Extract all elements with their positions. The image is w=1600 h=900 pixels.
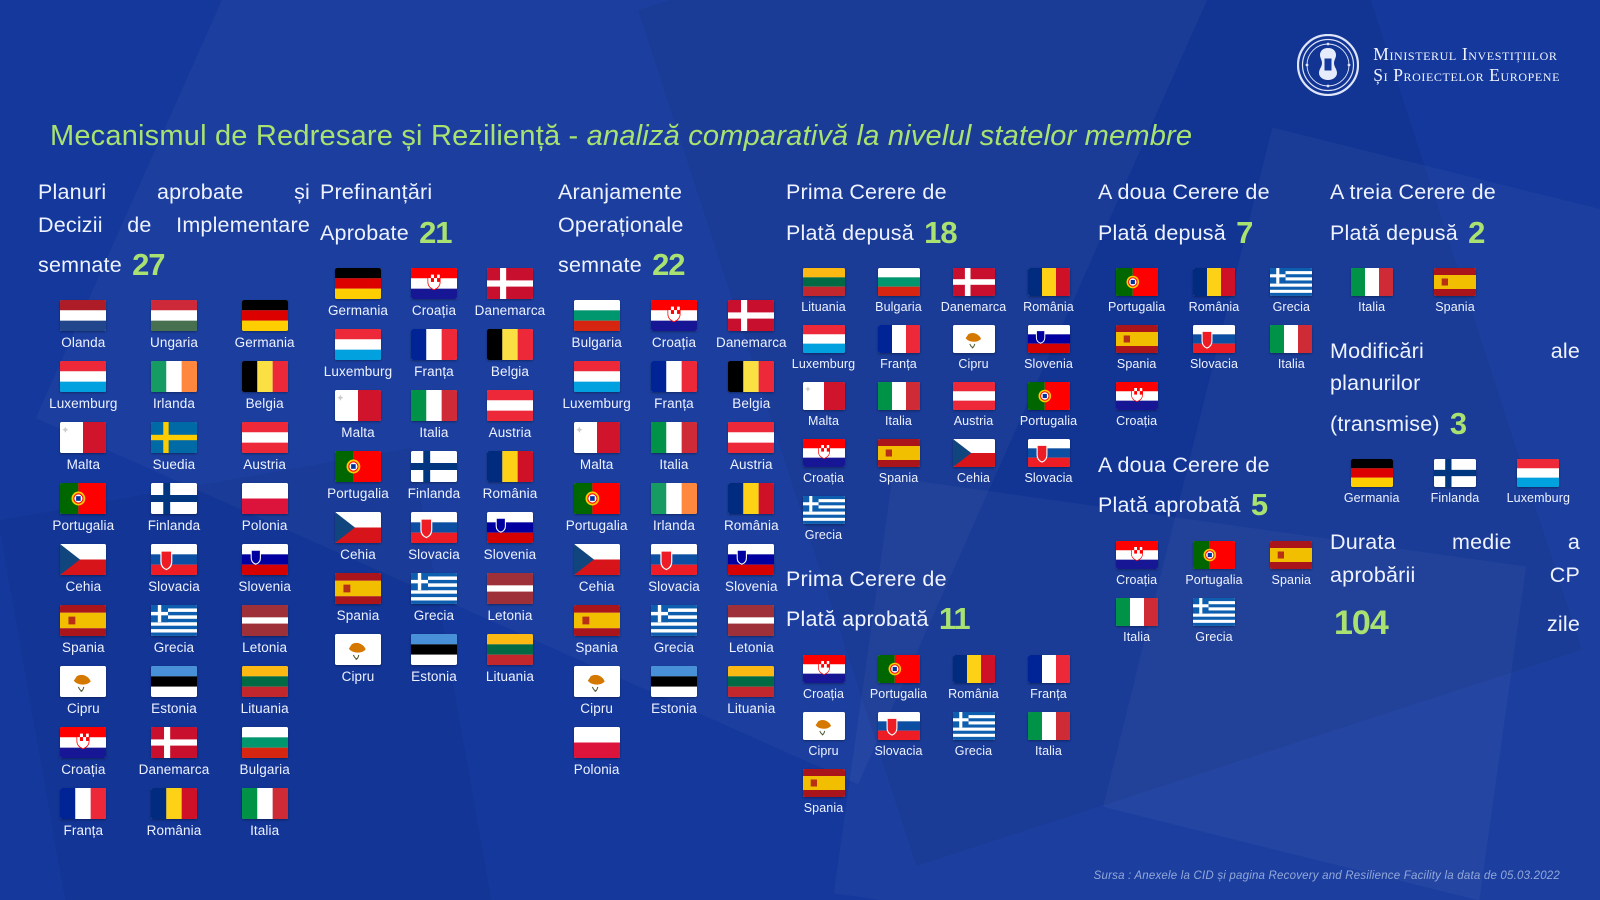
- flag-frana-icon: [60, 788, 106, 819]
- flag-romnia-icon: [953, 655, 995, 683]
- country-label: Letonia: [487, 608, 532, 623]
- flag-item[interactable]: România: [1011, 268, 1086, 314]
- flag-grecia-icon: [803, 496, 845, 524]
- country-label: România: [1023, 300, 1074, 314]
- flag-grecia-icon: [1193, 598, 1235, 626]
- flag-item[interactable]: Slovenia: [713, 544, 790, 594]
- flag-austria-icon: [953, 382, 995, 410]
- flag-item[interactable]: România: [1175, 268, 1252, 314]
- country-label: Portugalia: [1185, 573, 1242, 587]
- flag-lituania-icon: [242, 666, 288, 697]
- flag-item[interactable]: Italia: [1253, 325, 1330, 371]
- flag-item[interactable]: Danemarca: [129, 727, 220, 777]
- flag-item[interactable]: Malta: [558, 422, 635, 472]
- flag-item[interactable]: Slovenia: [219, 544, 310, 594]
- flag-item[interactable]: Bulgaria: [219, 727, 310, 777]
- duration-value: 104: [1330, 604, 1388, 642]
- flag-danemarca-icon: [728, 300, 774, 331]
- section-prima-cerere-depusa: Prima Cerere dePlată depusă 18LituaniaBu…: [786, 176, 1086, 553]
- flag-danemarca-icon: [953, 268, 995, 296]
- flag-romnia-icon: [151, 788, 197, 819]
- country-label: Grecia: [154, 640, 194, 655]
- flag-finlanda-icon: [411, 451, 457, 482]
- flag-germania-icon: [242, 300, 288, 331]
- country-label: Portugalia: [52, 518, 114, 533]
- flag-slovacia-icon: [151, 544, 197, 575]
- flag-item[interactable]: Austria: [713, 422, 790, 472]
- flag-item[interactable]: Cipru: [320, 634, 396, 684]
- flag-portugalia-icon: [1193, 541, 1235, 569]
- flag-luxemburg-icon: [1517, 459, 1559, 487]
- flag-item[interactable]: Croația: [786, 655, 861, 701]
- country-label: România: [483, 486, 538, 501]
- flag-item[interactable]: Spania: [320, 573, 396, 623]
- country-label: Austria: [954, 414, 994, 428]
- sections-board: Planuri aprobate șiDecizii de Implementa…: [0, 176, 1600, 876]
- flag-item[interactable]: Spania: [786, 769, 861, 815]
- country-label: Croația: [803, 471, 844, 485]
- flag-item[interactable]: Suedia: [129, 422, 220, 472]
- country-label: Danemarca: [139, 762, 210, 777]
- section-count-a-treia-cerere-depusa: 2: [1464, 215, 1484, 250]
- flag-item[interactable]: Franța: [635, 361, 712, 411]
- flag-item[interactable]: Ungaria: [129, 300, 220, 350]
- country-label: România: [1189, 300, 1240, 314]
- country-label: Slovacia: [148, 579, 200, 594]
- flag-item[interactable]: Italia: [396, 390, 472, 440]
- country-label: Croația: [61, 762, 105, 777]
- flag-frana-icon: [1028, 655, 1070, 683]
- flag-item[interactable]: România: [129, 788, 220, 838]
- flag-item[interactable]: Luxemburg: [38, 361, 129, 411]
- country-label: România: [147, 823, 202, 838]
- flag-item[interactable]: Estonia: [129, 666, 220, 716]
- flag-item[interactable]: Luxemburg: [786, 325, 861, 371]
- flag-item[interactable]: Olanda: [38, 300, 129, 350]
- flag-italia-icon: [1270, 325, 1312, 353]
- country-label: Cipru: [958, 357, 988, 371]
- country-label: Danemarca: [475, 303, 546, 318]
- column-2: PrefinanțăriAprobate 21GermaniaCroațiaDa…: [320, 176, 548, 705]
- flag-item[interactable]: Polonia: [558, 727, 635, 777]
- flag-frana-icon: [878, 325, 920, 353]
- flag-item[interactable]: Danemarca: [472, 268, 548, 318]
- flag-item[interactable]: Slovenia: [472, 512, 548, 562]
- flag-item[interactable]: Finlanda: [129, 483, 220, 533]
- flag-item[interactable]: Franța: [861, 325, 936, 371]
- flag-item[interactable]: Luxemburg: [320, 329, 396, 379]
- flag-item[interactable]: Grecia: [396, 573, 472, 623]
- section-heading-modificari-planuri: Modificări aleplanurilor(transmise) 3: [1330, 335, 1580, 447]
- flag-item[interactable]: Germania: [1330, 459, 1413, 505]
- flag-grid-prima-cerere-depusa: LituaniaBulgariaDanemarcaRomâniaLuxembur…: [786, 268, 1086, 553]
- flag-item[interactable]: Polonia: [219, 483, 310, 533]
- country-label: Lituania: [241, 701, 289, 716]
- country-label: Germania: [1344, 491, 1400, 505]
- flag-item[interactable]: Italia: [219, 788, 310, 838]
- heading-line: Prima Cerere de: [786, 563, 1086, 596]
- flag-portugalia-icon: [878, 655, 920, 683]
- flag-italia-icon: [1351, 268, 1393, 296]
- heading-line: Aranjamente: [558, 176, 790, 209]
- flag-belgia-icon: [242, 361, 288, 392]
- country-label: Croația: [1116, 414, 1157, 428]
- flag-item[interactable]: Franța: [396, 329, 472, 379]
- section-heading-durata-medie: Durata medie aaprobării CP104 zile: [1330, 526, 1580, 649]
- flag-italia-icon: [878, 382, 920, 410]
- flag-item[interactable]: Spania: [1253, 541, 1330, 587]
- country-label: Finlanda: [148, 518, 201, 533]
- flag-item[interactable]: Spania: [1098, 325, 1175, 371]
- column-4: Prima Cerere dePlată depusă 18LituaniaBu…: [786, 176, 1086, 836]
- flag-item[interactable]: Austria: [219, 422, 310, 472]
- flag-item[interactable]: România: [472, 451, 548, 501]
- flag-romnia-icon: [728, 483, 774, 514]
- flag-romnia-icon: [1028, 268, 1070, 296]
- flag-item[interactable]: Portugalia: [38, 483, 129, 533]
- flag-item[interactable]: Grecia: [635, 605, 712, 655]
- country-label: Portugalia: [1108, 300, 1165, 314]
- country-label: România: [724, 518, 779, 533]
- country-label: Italia: [419, 425, 448, 440]
- flag-item[interactable]: Slovacia: [1011, 439, 1086, 485]
- flag-spania-icon: [803, 769, 845, 797]
- heading-line: Decizii de Implementare: [38, 209, 310, 242]
- ministry-name-line1: Ministerul Investițiilor: [1373, 44, 1560, 65]
- country-label: Italia: [659, 457, 688, 472]
- flag-item[interactable]: Cipru: [38, 666, 129, 716]
- heading-line: Plată aprobată 5: [1098, 481, 1330, 528]
- country-label: Slovenia: [238, 579, 291, 594]
- heading-line: Modificări ale: [1330, 335, 1580, 368]
- flag-luxemburg-icon: [335, 329, 381, 360]
- flag-irlanda-icon: [651, 483, 697, 514]
- country-label: Estonia: [151, 701, 197, 716]
- flag-polonia-icon: [242, 483, 288, 514]
- flag-grid-a-doua-cerere-aprobata: CroațiaPortugaliaSpaniaItaliaGrecia: [1098, 541, 1330, 655]
- flag-ungaria-icon: [151, 300, 197, 331]
- flag-cipru-icon: [574, 666, 620, 697]
- country-label: Cipru: [67, 701, 100, 716]
- country-label: Slovacia: [874, 744, 922, 758]
- flag-estonia-icon: [411, 634, 457, 665]
- country-label: Belgia: [246, 396, 284, 411]
- section-planuri-aprobate: Planuri aprobate șiDecizii de Implementa…: [38, 176, 310, 849]
- country-label: Grecia: [414, 608, 454, 623]
- flag-item[interactable]: Letonia: [713, 605, 790, 655]
- flag-spania-icon: [335, 573, 381, 604]
- column-1: Planuri aprobate șiDecizii de Implementa…: [38, 176, 310, 859]
- flag-item[interactable]: Cipru: [558, 666, 635, 716]
- country-label: Franța: [414, 364, 454, 379]
- flag-item[interactable]: Franța: [1011, 655, 1086, 701]
- flag-grecia-icon: [953, 712, 995, 740]
- flag-item[interactable]: Grecia: [129, 605, 220, 655]
- flag-grecia-icon: [651, 605, 697, 636]
- flag-item[interactable]: Belgia: [713, 361, 790, 411]
- heading-line: Durata medie a: [1330, 526, 1580, 559]
- flag-item[interactable]: Croația: [38, 727, 129, 777]
- flag-item[interactable]: Slovacia: [861, 712, 936, 758]
- page-title-roman: Mecanismul de Redresare și Reziliență -: [50, 120, 587, 152]
- flag-portugalia-icon: [1116, 268, 1158, 296]
- flag-bulgaria-icon: [878, 268, 920, 296]
- flag-item[interactable]: Spania: [1413, 268, 1496, 314]
- flag-item[interactable]: Cipru: [786, 712, 861, 758]
- flag-item[interactable]: Spania: [38, 605, 129, 655]
- country-label: Luxemburg: [1507, 491, 1570, 505]
- section-count-a-doua-cerere-aprobata: 5: [1247, 487, 1267, 522]
- flag-item[interactable]: Irlanda: [129, 361, 220, 411]
- flag-item[interactable]: Italia: [861, 382, 936, 428]
- flag-letonia-icon: [487, 573, 533, 604]
- country-label: Spania: [1435, 300, 1475, 314]
- flag-item[interactable]: Letonia: [472, 573, 548, 623]
- country-label: Estonia: [651, 701, 697, 716]
- flag-germania-icon: [335, 268, 381, 299]
- flag-estonia-icon: [651, 666, 697, 697]
- country-label: Italia: [1358, 300, 1385, 314]
- flag-slovacia-icon: [878, 712, 920, 740]
- country-label: Spania: [62, 640, 105, 655]
- section-heading-planuri-aprobate: Planuri aprobate șiDecizii de Implementa…: [38, 176, 310, 288]
- country-label: Irlanda: [153, 396, 195, 411]
- flag-portugalia-icon: [335, 451, 381, 482]
- flag-item[interactable]: Portugalia: [558, 483, 635, 533]
- flag-croaia-icon: [651, 300, 697, 331]
- page-title: Mecanismul de Redresare și Reziliență - …: [50, 120, 1192, 153]
- brand-header: Ministerul Investițiilor și Proiectelor …: [1297, 34, 1560, 96]
- country-label: Grecia: [1195, 630, 1232, 644]
- flag-item[interactable]: Bulgaria: [861, 268, 936, 314]
- country-label: Ungaria: [150, 335, 198, 350]
- heading-line: Prefinanțări: [320, 176, 548, 209]
- section-heading-a-treia-cerere-depusa: A treia Cerere dePlată depusă 2: [1330, 176, 1580, 256]
- flag-item[interactable]: Malta: [786, 382, 861, 428]
- flag-cipru-icon: [335, 634, 381, 665]
- flag-danemarca-icon: [151, 727, 197, 758]
- flag-grid-prefinantari-aprobate: GermaniaCroațiaDanemarcaLuxemburgFranțaB…: [320, 268, 548, 695]
- heading-line: Plată aprobată 11: [786, 595, 1086, 642]
- flag-item[interactable]: Spania: [861, 439, 936, 485]
- section-count-aranjamente-operationale: 22: [648, 247, 684, 282]
- flag-item[interactable]: Finlanda: [396, 451, 472, 501]
- flag-item[interactable]: România: [713, 483, 790, 533]
- flag-lituania-icon: [487, 634, 533, 665]
- country-label: Irlanda: [653, 518, 695, 533]
- section-durata-medie: Durata medie aaprobării CP104 zile: [1330, 526, 1580, 649]
- flag-item[interactable]: Malta: [320, 390, 396, 440]
- flag-item[interactable]: Portugalia: [1011, 382, 1086, 428]
- flag-item[interactable]: Luxemburg: [558, 361, 635, 411]
- flag-croaia-icon: [1116, 382, 1158, 410]
- flag-item[interactable]: Cipru: [936, 325, 1011, 371]
- flag-item[interactable]: Portugalia: [861, 655, 936, 701]
- flag-croaia-icon: [1116, 541, 1158, 569]
- country-label: Luxemburg: [324, 364, 392, 379]
- section-prefinantari-aprobate: PrefinanțăriAprobate 21GermaniaCroațiaDa…: [320, 176, 548, 695]
- flag-item[interactable]: Portugalia: [1175, 541, 1252, 587]
- flag-item[interactable]: Bulgaria: [558, 300, 635, 350]
- country-label: Franța: [64, 823, 104, 838]
- flag-item[interactable]: Grecia: [936, 712, 1011, 758]
- flag-spania-icon: [1116, 325, 1158, 353]
- country-label: Danemarca: [941, 300, 1007, 314]
- flag-cipru-icon: [60, 666, 106, 697]
- flag-italia-icon: [411, 390, 457, 421]
- flag-item[interactable]: Italia: [1011, 712, 1086, 758]
- flag-grecia-icon: [411, 573, 457, 604]
- country-label: Spania: [337, 608, 380, 623]
- country-label: Croația: [803, 687, 844, 701]
- flag-item[interactable]: Croația: [1098, 541, 1175, 587]
- flag-item[interactable]: Croația: [1098, 382, 1175, 428]
- section-heading-a-doua-cerere-depusa: A doua Cerere dePlată depusă 7: [1098, 176, 1330, 256]
- flag-item[interactable]: Malta: [38, 422, 129, 472]
- flag-item[interactable]: Belgia: [219, 361, 310, 411]
- section-modificari-planuri: Modificări aleplanurilor(transmise) 3Ger…: [1330, 335, 1580, 516]
- country-label: Austria: [489, 425, 532, 440]
- flag-cipru-icon: [803, 712, 845, 740]
- flag-item[interactable]: Estonia: [396, 634, 472, 684]
- flag-frana-icon: [411, 329, 457, 360]
- country-label: Cipru: [342, 669, 375, 684]
- heading-line: A doua Cerere de: [1098, 176, 1330, 209]
- country-label: Cehia: [340, 547, 376, 562]
- heading-line: Plată depusă 18: [786, 209, 1086, 256]
- country-label: Franța: [880, 357, 917, 371]
- flag-item[interactable]: Lituania: [219, 666, 310, 716]
- flag-item[interactable]: Croația: [786, 439, 861, 485]
- flag-item[interactable]: Italia: [1098, 598, 1175, 644]
- flag-italia-icon: [651, 422, 697, 453]
- country-label: Slovenia: [484, 547, 537, 562]
- flag-malta-icon: [335, 390, 381, 421]
- flag-austria-icon: [728, 422, 774, 453]
- page-title-italic: analiză comparativă la nivelul statelor …: [587, 120, 1193, 152]
- flag-item[interactable]: Danemarca: [713, 300, 790, 350]
- flag-item[interactable]: Slovacia: [1175, 325, 1252, 371]
- flag-item[interactable]: Cehia: [38, 544, 129, 594]
- heading-line: Aprobate 21: [320, 209, 548, 256]
- country-label: Luxemburg: [562, 396, 630, 411]
- flag-item[interactable]: Danemarca: [936, 268, 1011, 314]
- flag-item[interactable]: Croația: [396, 268, 472, 318]
- column-3: AranjamenteOperaționalesemnate 22Bulgari…: [558, 176, 790, 798]
- flag-cehia-icon: [335, 512, 381, 543]
- country-label: Croația: [412, 303, 456, 318]
- flag-lituania-icon: [803, 268, 845, 296]
- flag-austria-icon: [242, 422, 288, 453]
- flag-item[interactable]: Estonia: [635, 666, 712, 716]
- flag-item[interactable]: Belgia: [472, 329, 548, 379]
- flag-romnia-icon: [1193, 268, 1235, 296]
- flag-item[interactable]: Letonia: [219, 605, 310, 655]
- country-label: Slovacia: [1024, 471, 1072, 485]
- section-count-planuri-aprobate: 27: [128, 247, 164, 282]
- flag-item[interactable]: Cehia: [320, 512, 396, 562]
- flag-polonia-icon: [574, 727, 620, 758]
- flag-item[interactable]: Slovacia: [396, 512, 472, 562]
- country-label: Spania: [1272, 573, 1312, 587]
- flag-item[interactable]: Italia: [635, 422, 712, 472]
- flag-item[interactable]: Lituania: [786, 268, 861, 314]
- flag-bulgaria-icon: [242, 727, 288, 758]
- flag-item[interactable]: Slovenia: [1011, 325, 1086, 371]
- flag-cehia-icon: [574, 544, 620, 575]
- flag-grid-prima-cerere-aprobata: CroațiaPortugaliaRomâniaFranțaCipruSlova…: [786, 655, 1086, 826]
- flag-grid-modificari-planuri: GermaniaFinlandaLuxemburg: [1330, 459, 1580, 516]
- flag-cehia-icon: [60, 544, 106, 575]
- flag-item[interactable]: Slovacia: [635, 544, 712, 594]
- flag-malta-icon: [803, 382, 845, 410]
- flag-luxemburg-icon: [60, 361, 106, 392]
- column-6: A treia Cerere dePlată depusă 2ItaliaSpa…: [1330, 176, 1580, 659]
- flag-spania-icon: [1434, 268, 1476, 296]
- section-count-prefinantari-aprobate: 21: [415, 215, 451, 250]
- flag-item[interactable]: Croația: [635, 300, 712, 350]
- flag-suedia-icon: [151, 422, 197, 453]
- flag-item[interactable]: Austria: [472, 390, 548, 440]
- flag-item[interactable]: Irlanda: [635, 483, 712, 533]
- flag-finlanda-icon: [151, 483, 197, 514]
- heading-line: Plată depusă 2: [1330, 209, 1580, 256]
- country-label: Danemarca: [716, 335, 787, 350]
- flag-item[interactable]: Slovacia: [129, 544, 220, 594]
- flag-luxemburg-icon: [803, 325, 845, 353]
- flag-item[interactable]: Grecia: [1253, 268, 1330, 314]
- flag-grid-a-treia-cerere-depusa: ItaliaSpania: [1330, 268, 1580, 325]
- flag-item[interactable]: Grecia: [1175, 598, 1252, 644]
- flag-item[interactable]: Italia: [1330, 268, 1413, 314]
- flag-item[interactable]: Lituania: [472, 634, 548, 684]
- heading-line: Planuri aprobate și: [38, 176, 310, 209]
- heading-line: A doua Cerere de: [1098, 449, 1330, 482]
- flag-item[interactable]: Portugalia: [1098, 268, 1175, 314]
- flag-item[interactable]: Germania: [219, 300, 310, 350]
- country-label: Portugalia: [566, 518, 628, 533]
- flag-item[interactable]: Lituania: [713, 666, 790, 716]
- country-label: Malta: [580, 457, 614, 472]
- flag-slovacia-icon: [1028, 439, 1070, 467]
- flag-item[interactable]: Franța: [38, 788, 129, 838]
- flag-item[interactable]: Portugalia: [320, 451, 396, 501]
- country-label: Grecia: [805, 528, 842, 542]
- flag-item[interactable]: România: [936, 655, 1011, 701]
- flag-item[interactable]: Germania: [320, 268, 396, 318]
- flag-item[interactable]: Spania: [558, 605, 635, 655]
- flag-croaia-icon: [803, 439, 845, 467]
- flag-item[interactable]: Luxemburg: [1497, 459, 1580, 505]
- country-label: Letonia: [729, 640, 774, 655]
- flag-item[interactable]: Cehia: [558, 544, 635, 594]
- flag-austria-icon: [487, 390, 533, 421]
- country-label: Polonia: [242, 518, 288, 533]
- flag-item[interactable]: Finlanda: [1413, 459, 1496, 505]
- country-label: Italia: [1035, 744, 1062, 758]
- country-label: Slovacia: [1190, 357, 1238, 371]
- flag-finlanda-icon: [1434, 459, 1476, 487]
- country-label: Cehia: [65, 579, 101, 594]
- flag-italia-icon: [1116, 598, 1158, 626]
- flag-item[interactable]: Cehia: [936, 439, 1011, 485]
- heading-line: semnate 22: [558, 241, 790, 288]
- flag-item[interactable]: Grecia: [786, 496, 861, 542]
- section-count-a-doua-cerere-depusa: 7: [1232, 215, 1252, 250]
- country-label: Malta: [808, 414, 839, 428]
- flag-slovenia-icon: [728, 544, 774, 575]
- flag-item[interactable]: Austria: [936, 382, 1011, 428]
